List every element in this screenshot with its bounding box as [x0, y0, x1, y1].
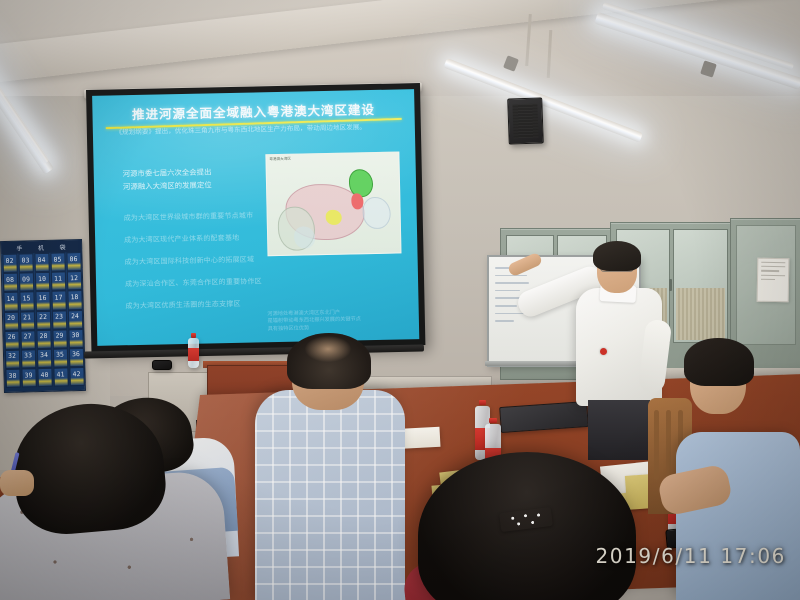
- phone-pocket[interactable]: 33: [20, 349, 35, 369]
- phone-pocket[interactable]: 29: [52, 329, 67, 349]
- phone-pocket[interactable]: 15: [19, 292, 34, 312]
- slide-bullet: 成为大湾区优质生活圈的生态支撑区: [125, 297, 312, 311]
- phone-pocket[interactable]: 30: [68, 329, 83, 349]
- pocket-row: 08 09 10 11 12: [2, 271, 82, 292]
- cabinet-handle[interactable]: [669, 279, 672, 291]
- projection-screen: 推进河源全面全域融入粤港澳大湾区建设 《规划纲要》提出，优化珠三角九市与粤东西北…: [86, 83, 425, 352]
- phone-pocket[interactable]: 28: [36, 330, 51, 350]
- presentation-slide: 推进河源全面全域融入粤港澳大湾区建设 《规划纲要》提出，优化珠三角九市与粤东西北…: [92, 89, 419, 346]
- bottle-cap: [489, 418, 496, 423]
- map-region: [362, 197, 391, 230]
- pocket-header-char: 袋: [59, 242, 66, 251]
- meeting-room-photo: 手 机 袋 02 03 04 05 06 08 09 10 11 12 14 1…: [0, 0, 800, 600]
- phone-pocket[interactable]: 03: [18, 253, 33, 273]
- phone-pocket[interactable]: 14: [3, 292, 18, 312]
- notice-line: [761, 262, 785, 264]
- phone-pocket[interactable]: 34: [36, 349, 51, 369]
- attendee-right-torso: [676, 432, 800, 600]
- phone-pocket[interactable]: 21: [19, 311, 34, 331]
- phone-pocket[interactable]: 38: [5, 369, 20, 389]
- attendee-foreground-hand: [0, 470, 34, 496]
- phone-pocket[interactable]: 32: [4, 350, 19, 370]
- phone-pocket[interactable]: 17: [51, 291, 66, 311]
- notice-line: [761, 266, 785, 268]
- phone-pocket[interactable]: 41: [53, 367, 68, 387]
- map-region-highlight: [348, 169, 373, 198]
- smartphone[interactable]: [152, 360, 172, 370]
- pocket-row: 32 33 34 35 36: [4, 348, 84, 369]
- phone-pocket[interactable]: 23: [51, 310, 66, 330]
- phone-pocket[interactable]: 22: [35, 310, 50, 330]
- notice-line: [761, 274, 785, 276]
- camera-timestamp: 2019/6/11 17:06: [595, 544, 786, 568]
- slide-footnote: 河源地处粤港澳大湾区东北门户 是辐射带动粤东西北振兴发展的关键节点 具有独特区位…: [267, 308, 403, 334]
- cabinet-glass-door[interactable]: [673, 229, 728, 343]
- party-badge-icon: [600, 348, 607, 355]
- bottle-cap: [479, 400, 486, 405]
- phone-pocket[interactable]: 05: [50, 252, 65, 272]
- pocket-row: 38 39 40 41 42: [4, 367, 84, 388]
- attendee-center-torso: [255, 390, 405, 600]
- phone-pocket[interactable]: 06: [66, 252, 81, 272]
- posted-notice: [757, 258, 790, 303]
- pocket-row: 14 15 16 17 18: [2, 290, 82, 311]
- phone-pocket[interactable]: 09: [18, 272, 33, 292]
- speaker-grill: [512, 104, 538, 139]
- phone-pocket[interactable]: 39: [21, 368, 36, 388]
- phone-pocket[interactable]: 40: [37, 368, 52, 388]
- pocket-header-char: 手: [16, 243, 23, 252]
- phone-pocket[interactable]: 04: [34, 253, 49, 273]
- phone-pocket[interactable]: 11: [50, 272, 65, 292]
- pocket-row: 26 27 28 29 30: [3, 329, 83, 350]
- slide-lead-text: 河源市委七届六次全会提出 河源融入大湾区的发展定位: [123, 165, 272, 193]
- slide-bullet: 成为深汕合作区、东莞合作区的重要协作区: [125, 275, 312, 289]
- phone-pocket[interactable]: 18: [67, 290, 82, 310]
- phone-pocket[interactable]: 24: [67, 310, 82, 330]
- guangdong-map-image: 粤港澳大湾区: [265, 151, 401, 256]
- phone-pocket[interactable]: 27: [20, 330, 35, 350]
- phone-pocket[interactable]: 02: [2, 254, 17, 274]
- phone-pocket[interactable]: 20: [3, 311, 18, 331]
- pocket-row: 20 21 22 23 24: [3, 310, 83, 331]
- phone-pocket[interactable]: 42: [69, 367, 84, 387]
- pocket-row: 02 03 04 05 06: [1, 252, 81, 273]
- pocket-header-char: 机: [38, 242, 45, 251]
- phone-pocket[interactable]: 16: [35, 291, 50, 311]
- attendee-right-hair: [684, 338, 754, 386]
- cabinet-documents: [676, 288, 725, 340]
- presenter-hair: [593, 241, 641, 271]
- chair-slat: [666, 410, 671, 480]
- notice-line: [761, 270, 779, 272]
- phone-pocket[interactable]: 10: [34, 272, 49, 292]
- phone-pocket[interactable]: 26: [4, 330, 19, 350]
- attendee-center-scalp: [305, 336, 351, 362]
- phone-pocket[interactable]: 12: [66, 271, 81, 291]
- map-region-highlight: [326, 210, 342, 225]
- chair-slat: [654, 410, 659, 480]
- presenter-legs: [588, 400, 650, 460]
- water-bottle[interactable]: [188, 338, 199, 368]
- map-label: 粤港澳大湾区: [269, 157, 291, 162]
- wall-speaker-icon: [507, 97, 544, 144]
- phone-pocket-organizer[interactable]: 手 机 袋 02 03 04 05 06 08 09 10 11 12 14 1…: [0, 239, 86, 393]
- phone-pocket[interactable]: 08: [2, 273, 17, 293]
- notice-line: [761, 279, 775, 280]
- bottle-label: [188, 348, 199, 361]
- phone-pocket[interactable]: 36: [68, 348, 83, 368]
- phone-pocket[interactable]: 35: [52, 348, 67, 368]
